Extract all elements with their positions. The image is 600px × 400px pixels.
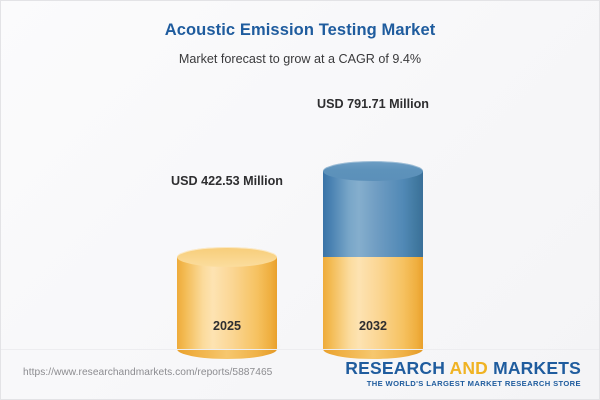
cylinder-base-2032 xyxy=(323,247,423,349)
bar-2032[interactable] xyxy=(323,44,423,349)
logo-word-research: RESEARCH xyxy=(345,358,449,378)
category-label-2025: 2025 xyxy=(177,319,277,333)
report-url[interactable]: https://www.researchandmarkets.com/repor… xyxy=(23,367,272,378)
cylinder-top-cap xyxy=(323,161,423,181)
cylinder-body xyxy=(177,257,277,349)
cylinder-growth-2032 xyxy=(323,161,423,257)
market-infographic: Acoustic Emission Testing Market Market … xyxy=(0,0,600,400)
value-label-2025: USD 422.53 Million xyxy=(157,174,297,188)
cylinder-body xyxy=(323,257,423,349)
research-and-markets-logo[interactable]: RESEARCH AND MARKETS THE WORLD'S LARGEST… xyxy=(345,359,581,388)
logo-wordmark: RESEARCH AND MARKETS xyxy=(345,359,581,377)
cylinder-base-2025 xyxy=(177,247,277,349)
cylinder-body xyxy=(323,171,423,257)
logo-word-markets: MARKETS xyxy=(493,358,581,378)
footer: https://www.researchandmarkets.com/repor… xyxy=(1,349,599,399)
category-label-2032: 2032 xyxy=(323,319,423,333)
value-label-2032: USD 791.71 Million xyxy=(303,97,443,111)
logo-tagline: THE WORLD'S LARGEST MARKET RESEARCH STOR… xyxy=(345,379,581,388)
bar-2025[interactable] xyxy=(177,44,277,349)
logo-word-and: AND xyxy=(449,358,493,378)
cylinder-top-cap xyxy=(177,247,277,267)
chart-plot-area: USD 422.53 Million USD 791.71 Million 20… xyxy=(1,1,600,349)
